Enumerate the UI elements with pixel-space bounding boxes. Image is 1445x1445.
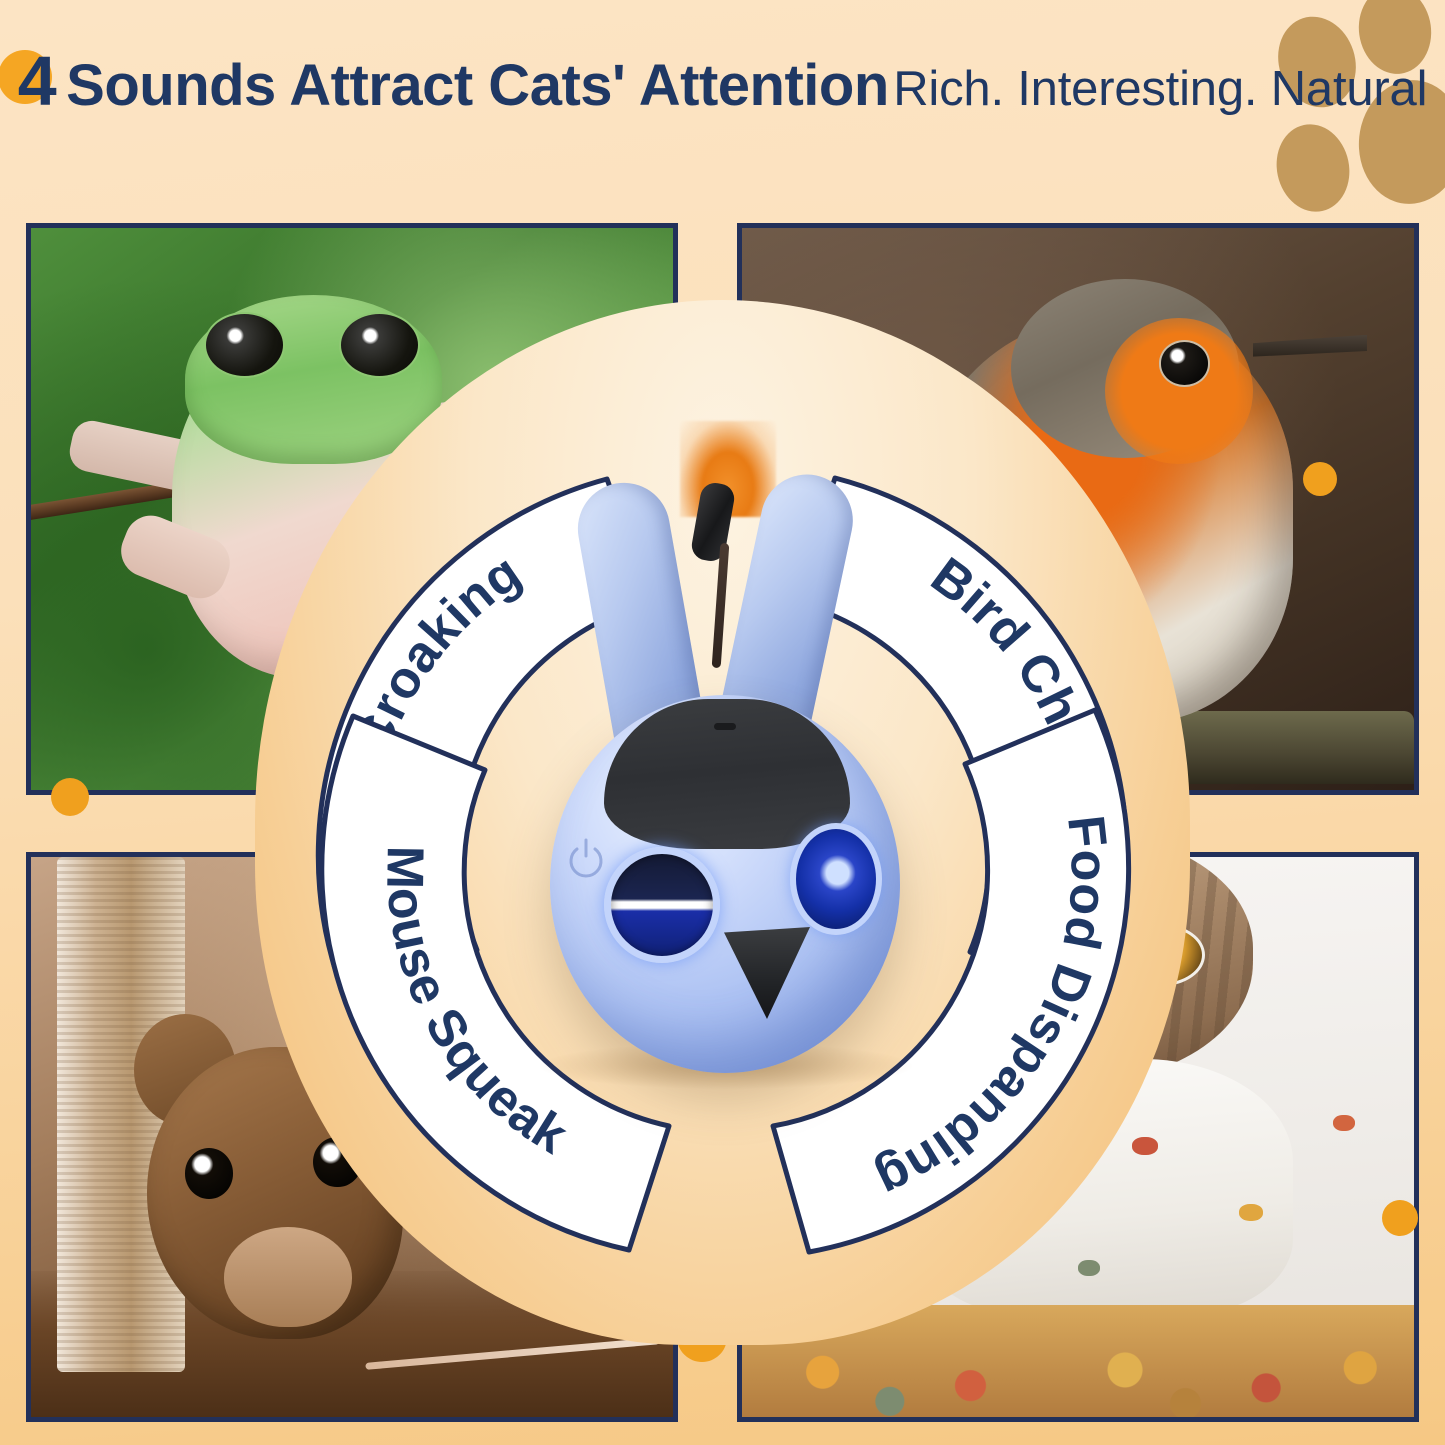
toy-eye-half-closed (604, 847, 720, 963)
badge-number: 4 (18, 42, 56, 120)
accent-dot-left (51, 778, 89, 816)
microphone-hole (714, 723, 736, 730)
cat-toy-ball (530, 455, 920, 1095)
mouse-eye-left (185, 1148, 233, 1198)
mouse-snout (224, 1227, 352, 1328)
toy-ball-body (550, 695, 900, 1073)
header-block: 4 Sounds Attract Cats' Attention Rich. I… (0, 44, 1445, 118)
kibble-piece (1132, 1137, 1158, 1155)
kibble-piece (1078, 1260, 1100, 1276)
kibble-piece (1333, 1115, 1355, 1131)
sound-count-badge: 4 (18, 44, 56, 118)
toy-beak (724, 927, 810, 1019)
power-button-icon[interactable] (566, 837, 606, 881)
kibble-piece (1239, 1204, 1263, 1221)
toy-eye-round (790, 823, 882, 935)
page-subtitle: Rich. Interesting. Natural (893, 64, 1427, 116)
accent-dot-right-lower (1382, 1200, 1418, 1236)
frog-eye-left (204, 312, 285, 378)
toy-top-cap (604, 699, 850, 849)
infographic-poster: 4 Sounds Attract Cats' Attention Rich. I… (0, 0, 1445, 1445)
bird-beak (1253, 335, 1367, 363)
title-text: Sounds Attract Cats' Attention (66, 53, 889, 118)
feather-string (712, 543, 730, 668)
bird-eye (1159, 340, 1210, 386)
page-title: 4 Sounds Attract Cats' Attention (18, 44, 889, 118)
frog-eye-right (339, 312, 420, 378)
accent-dot-upper-right (1303, 462, 1337, 496)
